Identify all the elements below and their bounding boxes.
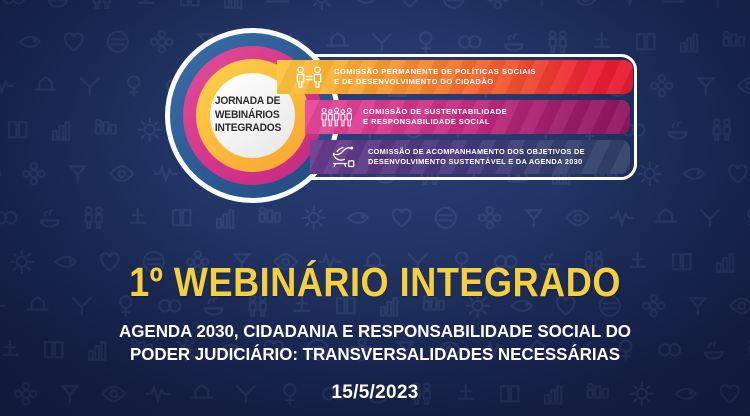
emblem-group: COMISSÃO PERMANENTE DE POLÍTICAS SOCIAIS… [165, 28, 640, 203]
dove-peace-icon [325, 144, 359, 170]
commission-bar-label: COMISSÃO PERMANENTE DE POLÍTICAS SOCIAIS… [334, 67, 536, 87]
commission-bar-social-policies[interactable]: COMISSÃO PERMANENTE DE POLÍTICAS SOCIAIS… [277, 60, 633, 94]
page-title: 1º WEBINÁRIO INTEGRADO [45, 262, 705, 303]
event-date: 15/5/2023 [0, 382, 750, 404]
family-group-icon [320, 104, 354, 130]
two-people-equality-icon [292, 64, 326, 90]
page-subtitle: AGENDA 2030, CIDADANIA E RESPONSABILIDAD… [11, 320, 739, 366]
commission-bar-label: COMISSÃO DE ACOMPANHAMENTO DOS OBJETIVOS… [368, 147, 585, 167]
commission-bars: COMISSÃO PERMANENTE DE POLÍTICAS SOCIAIS… [277, 60, 633, 174]
headline-block: 1º WEBINÁRIO INTEGRADO AGENDA 2030, CIDA… [0, 262, 750, 404]
poster-canvas: COMISSÃO PERMANENTE DE POLÍTICAS SOCIAIS… [0, 0, 750, 416]
commission-bar-agenda-2030[interactable]: COMISSÃO DE ACOMPANHAMENTO DOS OBJETIVOS… [310, 140, 630, 174]
commission-bar-sustainability[interactable]: COMISSÃO DE SUSTENTABILIDADE E RESPONSAB… [305, 100, 630, 134]
commission-bar-label: COMISSÃO DE SUSTENTABILIDADE E RESPONSAB… [363, 107, 507, 127]
